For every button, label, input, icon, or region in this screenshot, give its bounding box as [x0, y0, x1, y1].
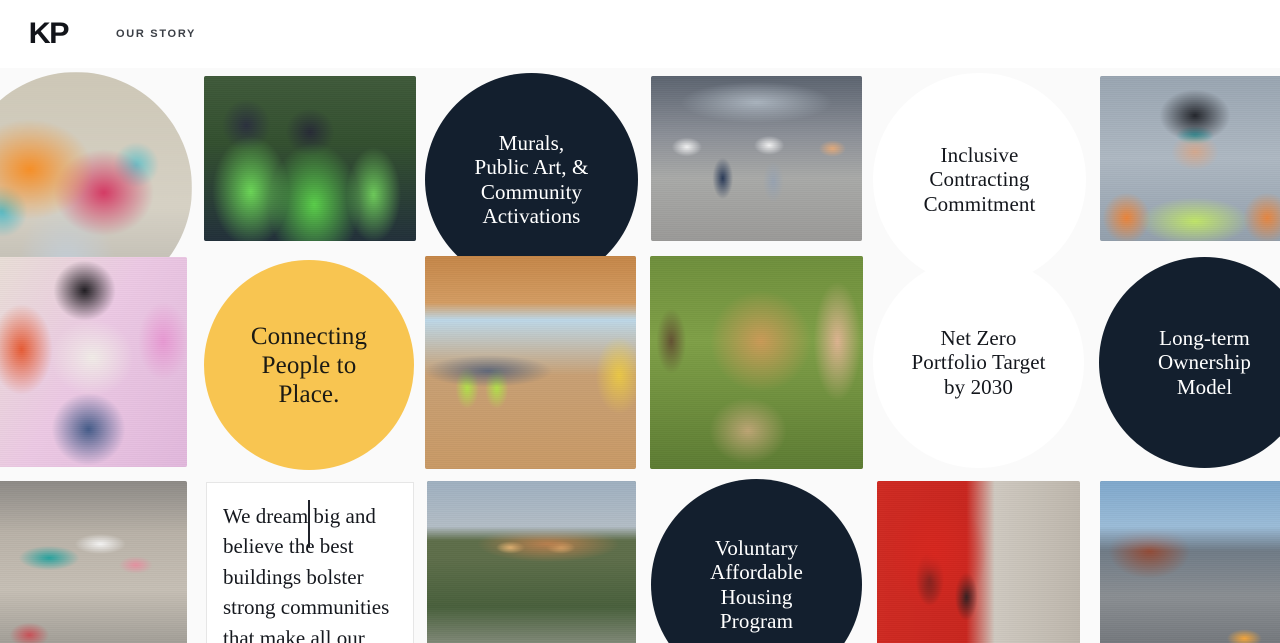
photo-woman-colorful-mural[interactable] — [0, 257, 187, 467]
callout-murals-public-art[interactable]: Murals,Public Art, &CommunityActivations — [425, 73, 638, 286]
photo-mural-painting-family-image — [877, 481, 1080, 643]
photo-beekeeper-hive-image — [650, 256, 863, 469]
callout-long-term-ownership-label: Long-termOwnershipModel — [1158, 326, 1251, 399]
photo-construction-worker-portrait[interactable] — [1100, 76, 1280, 241]
callout-net-zero-portfolio[interactable]: Net ZeroPortfolio Targetby 2030 — [873, 257, 1084, 468]
callout-murals-public-art-label: Murals,Public Art, &CommunityActivations — [475, 131, 589, 228]
callout-inclusive-contracting-label: InclusiveContractingCommitment — [924, 143, 1036, 216]
story-grid: Murals,Public Art, &CommunityActivations… — [0, 68, 1280, 643]
site-header: KP OUR STORY — [0, 0, 1280, 68]
photo-woman-colorful-mural-image — [0, 257, 187, 467]
callout-inclusive-contracting[interactable]: InclusiveContractingCommitment — [873, 73, 1086, 286]
callout-connecting-people-to-place-label: ConnectingPeople toPlace. — [251, 322, 367, 409]
connector-line — [308, 500, 310, 547]
photo-mass-timber-construction-image — [425, 256, 636, 469]
photo-mass-timber-construction[interactable] — [425, 256, 636, 469]
photo-civic-building-dusk-image — [427, 481, 636, 643]
callout-long-term-ownership[interactable]: Long-termOwnershipModel — [1099, 257, 1280, 468]
photo-mural-painting-family[interactable] — [877, 481, 1080, 643]
photo-volunteers-green-vests-image — [204, 76, 416, 241]
photo-evening-patio-lights[interactable] — [1100, 481, 1280, 643]
logo-link[interactable]: KP — [0, 19, 96, 49]
statement-text: We dream big and believe the best buildi… — [223, 501, 397, 643]
photo-evening-patio-lights-image — [1100, 481, 1280, 643]
photo-plaza-event-image — [0, 481, 187, 643]
photo-civic-building-dusk[interactable] — [427, 481, 636, 643]
statement-card: We dream big and believe the best buildi… — [206, 482, 414, 643]
primary-nav: OUR STORY — [116, 28, 196, 40]
callout-net-zero-portfolio-label: Net ZeroPortfolio Targetby 2030 — [911, 326, 1045, 399]
callout-voluntary-affordable-housing[interactable]: VoluntaryAffordableHousingProgram — [651, 479, 862, 643]
photo-street-market-image — [651, 76, 862, 241]
photo-street-market[interactable] — [651, 76, 862, 241]
photo-construction-worker-portrait-image — [1100, 76, 1280, 241]
photo-plaza-event[interactable] — [0, 481, 187, 643]
nav-item-our-story[interactable]: OUR STORY — [116, 28, 196, 40]
photo-beekeeper-hive[interactable] — [650, 256, 863, 469]
kp-wordmark-icon: KP — [28, 19, 67, 49]
photo-volunteers-green-vests[interactable] — [204, 76, 416, 241]
callout-connecting-people-to-place[interactable]: ConnectingPeople toPlace. — [204, 260, 414, 470]
callout-voluntary-affordable-housing-label: VoluntaryAffordableHousingProgram — [710, 536, 803, 633]
